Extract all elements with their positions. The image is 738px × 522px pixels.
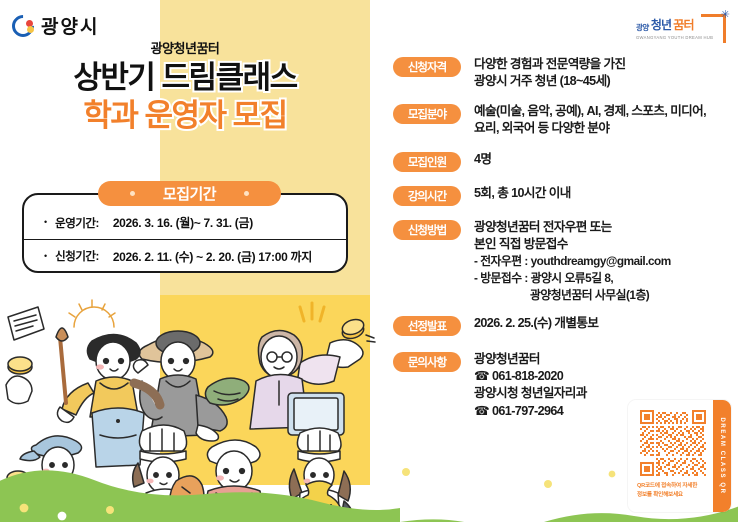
recruitment-period-label: 모집기간 xyxy=(163,183,216,204)
logo-dream-text: 꿈터 xyxy=(673,16,693,33)
logo-youth-text: 청년 xyxy=(651,16,671,33)
contact-org-2: 광양시청 청년일자리과 xyxy=(474,385,587,402)
detail-body-hours: 5회, 총 10시간 이내 xyxy=(474,185,571,202)
qr-code-card[interactable]: DREAM CLASS QR xyxy=(628,400,731,512)
detail-body-announcement: 2026. 2. 25.(수) 개별통보 xyxy=(474,315,598,332)
city-emblem-icon xyxy=(12,15,34,37)
detail-subline-visit-cont: 광양청년꿈터 사무실(1층) xyxy=(474,287,671,304)
contact-phone-1: ☎ 061-818-2020 xyxy=(474,368,587,385)
poster-title-line2: 학과 운영자 모집 xyxy=(0,97,370,136)
period-row-value: 2026. 2. 11. (수) ~ 2. 20. (금) 17:00 까지 xyxy=(113,248,312,265)
detail-row-howto: 신청방법 광양청년꿈터 전자우편 또는 본인 직접 방문접수 - 전자우편 : … xyxy=(393,219,731,304)
poster-kicker: 광양청년꿈터 xyxy=(0,38,370,57)
detail-line: 5회, 총 10시간 이내 xyxy=(474,185,571,202)
detail-tag-eligibility: 신청자격 xyxy=(393,57,461,77)
detail-line: 예술(미술, 음악, 공예), AI, 경제, 스포츠, 미디어, xyxy=(474,103,706,120)
detail-tag-hours: 강의시간 xyxy=(393,186,461,206)
detail-row-headcount: 모집인원 4명 xyxy=(393,151,731,172)
detail-line: 요리, 외국어 등 다양한 분야 xyxy=(474,120,706,137)
detail-line: 본인 직접 방문접수 xyxy=(474,236,671,253)
detail-line: 4명 xyxy=(474,151,491,168)
detail-row-hours: 강의시간 5회, 총 10시간 이내 xyxy=(393,185,731,206)
detail-row-fields: 모집분야 예술(미술, 음악, 공예), AI, 경제, 스포츠, 미디어, 요… xyxy=(393,103,731,138)
detail-body-fields: 예술(미술, 음악, 공예), AI, 경제, 스포츠, 미디어, 요리, 외국… xyxy=(474,103,706,138)
qr-instruction-note: QR코드에 접속하여 자세한 정보를 확인해보세요 xyxy=(637,482,711,500)
detail-body-eligibility: 다양한 경험과 전문역량을 가진 광양시 거주 청년 (18~45세) xyxy=(474,56,626,91)
period-row-label: 신청기간: xyxy=(55,248,99,264)
period-row: • 신청기간: 2026. 2. 11. (수) ~ 2. 20. (금) 17… xyxy=(22,239,348,272)
detail-body-headcount: 4명 xyxy=(474,151,491,168)
detail-tag-fields: 모집분야 xyxy=(393,104,461,124)
recruitment-period-rows: • 운영기간: 2026. 3. 16. (월)~ 7. 31. (금) • 신… xyxy=(22,206,348,272)
recruitment-period-pill: 모집기간 xyxy=(98,181,281,206)
qr-code-image[interactable] xyxy=(640,410,706,476)
youth-dream-hub-logo: ✳ 광양 청년 꿈터 GWANGYANG YOUTH DREAM HUB xyxy=(634,10,730,48)
detail-tag-contact: 문의사항 xyxy=(393,352,461,372)
gwangyang-city-logo: 광양시 xyxy=(12,12,99,39)
qr-tab-label: DREAM CLASS QR xyxy=(719,417,725,494)
qr-note-line2: 정보를 확인해보세요 xyxy=(637,491,711,500)
detail-tag-howto: 신청방법 xyxy=(393,220,461,240)
logo-subtitle: GWANGYANG YOUTH DREAM HUB xyxy=(636,35,713,40)
detail-line: 다양한 경험과 전문역량을 가진 xyxy=(474,56,626,73)
city-logo-label: 광양시 xyxy=(41,12,99,39)
logo-city-text: 광양 xyxy=(636,22,649,33)
period-row-value: 2026. 3. 16. (월)~ 7. 31. (금) xyxy=(113,214,253,231)
period-row: • 운영기간: 2026. 3. 16. (월)~ 7. 31. (금) xyxy=(22,206,348,239)
detail-line: 광양청년꿈터 전자우편 또는 xyxy=(474,219,671,236)
qr-card-tab: DREAM CLASS QR xyxy=(713,400,731,512)
details-list: 신청자격 다양한 경험과 전문역량을 가진 광양시 거주 청년 (18~45세)… xyxy=(393,56,731,428)
qr-note-line1: QR코드에 접속하여 자세한 xyxy=(637,482,711,491)
contact-phone-2: ☎ 061-797-2964 xyxy=(474,403,587,420)
poster-title-line1: 상반기 드림클래스 xyxy=(0,60,370,97)
detail-subline-visit: - 방문접수 : 광양시 오류5길 8, xyxy=(474,270,671,287)
detail-line: 광양시 거주 청년 (18~45세) xyxy=(474,73,626,90)
detail-tag-headcount: 모집인원 xyxy=(393,152,461,172)
detail-tag-announcement: 선정발표 xyxy=(393,316,461,336)
pill-dot-left-icon xyxy=(130,191,135,196)
detail-sublist-howto: - 전자우편 : youthdreamgy@gmail.com - 방문접수 :… xyxy=(474,253,671,303)
detail-body-contact: 광양청년꿈터 ☎ 061-818-2020 광양시청 청년일자리과 ☎ 061-… xyxy=(474,351,587,421)
detail-line: 2026. 2. 25.(수) 개별통보 xyxy=(474,315,598,332)
contact-org-1: 광양청년꿈터 xyxy=(474,351,587,368)
bullet-icon: • xyxy=(44,252,47,261)
detail-row-announcement: 선정발표 2026. 2. 25.(수) 개별통보 xyxy=(393,315,731,336)
pill-dot-right-icon xyxy=(244,191,249,196)
grass-decoration-left xyxy=(0,452,400,522)
poster-canvas: TAX 광양시 ✳ 광양 청년 꿈터 xyxy=(0,0,738,522)
detail-subline-email: - 전자우편 : youthdreamgy@gmail.com xyxy=(474,253,671,270)
detail-body-howto: 광양청년꿈터 전자우편 또는 본인 직접 방문접수 - 전자우편 : youth… xyxy=(474,219,671,304)
bullet-icon: • xyxy=(44,218,47,227)
poster-title: 상반기 드림클래스 학과 운영자 모집 xyxy=(0,60,370,135)
period-row-label: 운영기간: xyxy=(55,215,99,231)
detail-row-eligibility: 신청자격 다양한 경험과 전문역량을 가진 광양시 거주 청년 (18~45세) xyxy=(393,56,731,91)
